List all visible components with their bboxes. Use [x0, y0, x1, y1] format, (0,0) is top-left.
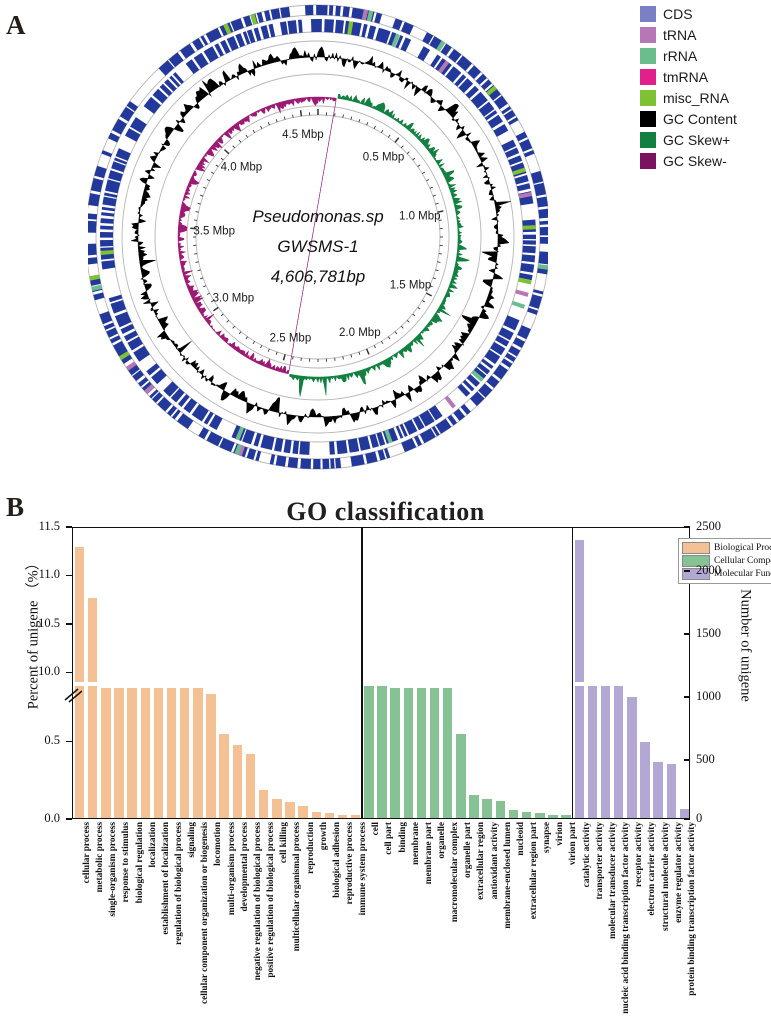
- x-axis-label: nucleic acid binding transcription facto…: [621, 822, 631, 1014]
- x-axis-label: structural molecule activity: [661, 822, 671, 931]
- legend-item-rrna: rRNA: [640, 45, 771, 66]
- x-axis-label: membrane: [411, 822, 421, 865]
- bar: [141, 688, 150, 818]
- x-axis-label: metabolic process: [95, 822, 105, 892]
- x-axis-label: cell killing: [279, 822, 289, 863]
- x-axis-label: virion: [555, 822, 565, 846]
- axis-break-icon: [64, 687, 82, 703]
- bar: [390, 688, 399, 818]
- y-tick-right: [684, 526, 690, 527]
- y-tick-label-left: 0.0: [20, 811, 60, 826]
- mbp-label: 4.5 Mbp: [282, 129, 324, 141]
- chart-title: GO classification: [0, 497, 771, 527]
- y-tick-right: [684, 759, 690, 760]
- bar: [575, 686, 584, 818]
- legend-label: GC Skew-: [663, 153, 727, 169]
- bar: [364, 686, 373, 818]
- x-axis-label: reproductive process: [345, 822, 355, 904]
- x-axis-label: virion part: [568, 822, 578, 865]
- x-axis-label: biological adhesion: [332, 822, 342, 898]
- chart-legend-swatch-icon: [682, 542, 710, 554]
- circular-genome-map: 0.5 Mbp1.0 Mbp1.5 Mbp2.0 Mbp2.5 Mbp3.0 M…: [88, 0, 548, 480]
- bar: [535, 813, 544, 818]
- bar: [469, 795, 478, 818]
- legend-label: GC Skew+: [663, 132, 730, 148]
- legend-swatch-icon: [640, 69, 656, 85]
- legend-label: GC Content: [663, 111, 737, 127]
- y-tick-right: [684, 633, 690, 634]
- go-classification-chart: Percent of unigene （%） Number of unigene…: [0, 527, 771, 1016]
- bar: [325, 813, 334, 818]
- legend-item-gc-skew-: GC Skew+: [640, 130, 771, 151]
- bar: [114, 688, 123, 818]
- x-axis-label: receptor activity: [634, 822, 644, 887]
- legend-label: rRNA: [663, 48, 697, 64]
- bar: [667, 764, 676, 818]
- bar: [233, 745, 242, 818]
- bar: [259, 790, 268, 818]
- y-tick-label-left: 10.5: [20, 616, 60, 631]
- bars-layer: [73, 528, 689, 818]
- x-axis-label: protein binding transcription factor act…: [687, 822, 697, 996]
- x-axis-label: organelle part: [463, 822, 473, 878]
- bar: [312, 812, 321, 818]
- x-axis-label: immune system process: [358, 822, 368, 915]
- y-tick-label-right: 1000: [696, 689, 740, 704]
- y-axis-left-title: Percent of unigene （%）: [22, 538, 43, 728]
- bar: [351, 815, 360, 818]
- bar: [456, 734, 465, 818]
- bar: [522, 812, 531, 818]
- legend-label: misc_RNA: [663, 90, 729, 106]
- genome-legend: CDStRNArRNAtmRNAmisc_RNAGC ContentGC Ske…: [640, 3, 771, 172]
- legend-item-cds: CDS: [640, 3, 771, 24]
- x-axis-label: cellular component organization or bioge…: [200, 822, 210, 1004]
- bar-upper: [575, 540, 584, 682]
- x-axis-label: enzyme regulator activity: [674, 822, 684, 923]
- bar: [548, 815, 557, 818]
- bar: [127, 688, 136, 818]
- x-axis-label: locomotion: [213, 822, 223, 866]
- bar: [246, 754, 255, 818]
- x-axis-label: antioxidant activity: [490, 822, 500, 899]
- y-tick-right: [684, 696, 690, 697]
- bar: [430, 688, 439, 818]
- x-axis-label: molecular transducer activity: [608, 822, 618, 939]
- x-axis-label: membrane-enclosed lumen: [503, 822, 513, 929]
- y-tick-label-right: 0: [696, 811, 740, 826]
- bar: [588, 686, 597, 818]
- x-axis-label: cell part: [384, 822, 394, 855]
- x-axis-label: biological regulation: [135, 822, 145, 903]
- x-axis-label: binding: [398, 822, 408, 853]
- bar: [561, 815, 570, 818]
- bar: [443, 688, 452, 818]
- y-tick-left: [66, 575, 72, 576]
- bar: [404, 688, 413, 818]
- bar: [640, 742, 649, 818]
- chart-legend-item: Biological Process: [682, 542, 771, 554]
- legend-label: CDS: [663, 6, 693, 22]
- x-axis-label: localization: [148, 822, 158, 867]
- mbp-label: 2.0 Mbp: [339, 327, 381, 339]
- mbp-label: 2.5 Mbp: [270, 332, 312, 344]
- x-axis-label: nucleoid: [516, 822, 526, 856]
- x-axis-label: growth: [319, 822, 329, 850]
- x-axis-label: catalytic activity: [582, 822, 592, 887]
- x-axis-label: establishment of localization: [161, 822, 171, 935]
- y-tick-label-right: 1500: [696, 626, 740, 641]
- chart-legend-label: Biological Process: [714, 543, 771, 553]
- x-axis-label: cell: [371, 822, 381, 835]
- bar: [377, 686, 386, 818]
- x-axis-label: synapse: [542, 822, 552, 853]
- bar-upper: [75, 547, 84, 682]
- legend-item-misc-rna: misc_RNA: [640, 87, 771, 108]
- y-tick-right: [684, 570, 690, 571]
- x-axis-label: multicellular organismal process: [292, 822, 302, 951]
- bar: [680, 809, 689, 818]
- legend-item-gc-skew-: GC Skew-: [640, 151, 771, 172]
- x-axis-label: single-organism process: [108, 822, 118, 917]
- bar: [285, 802, 294, 818]
- bar: [272, 799, 281, 818]
- y-tick-label-right: 2500: [696, 519, 740, 534]
- legend-swatch-icon: [640, 27, 656, 43]
- y-tick-label-left: 11.5: [20, 519, 60, 534]
- bar-upper: [88, 598, 97, 682]
- legend-item-trna: tRNA: [640, 24, 771, 45]
- genome-name-line2: GWSMS-1: [277, 237, 358, 256]
- x-axis-label: signaling: [187, 822, 197, 858]
- bar: [653, 762, 662, 818]
- bar: [206, 694, 215, 818]
- bar: [496, 801, 505, 818]
- x-axis-label: regulation of biological process: [174, 822, 184, 945]
- y-tick-left: [66, 623, 72, 624]
- mbp-label: 3.0 Mbp: [213, 292, 255, 304]
- bar: [75, 686, 84, 818]
- y-tick-label-left: 10.0: [20, 664, 60, 679]
- bar: [219, 734, 228, 818]
- legend-swatch-icon: [640, 6, 656, 22]
- bar: [627, 697, 636, 818]
- legend-swatch-icon: [640, 90, 656, 106]
- bar: [482, 799, 491, 818]
- y-tick-label-left: 0.5: [20, 733, 60, 748]
- bar: [601, 686, 610, 818]
- bar: [101, 688, 110, 818]
- x-axis-label: positive regulation of biological proces…: [266, 822, 276, 978]
- bar: [154, 688, 163, 818]
- genome-map-svg: 0.5 Mbp1.0 Mbp1.5 Mbp2.0 Mbp2.5 Mbp3.0 M…: [88, 0, 548, 480]
- bar: [614, 686, 623, 818]
- legend-item-gc-content: GC Content: [640, 108, 771, 129]
- y-tick-label-right: 2000: [696, 563, 740, 578]
- panel-a-label: A: [6, 10, 26, 41]
- x-axis-label: negative regulation of biological proces…: [253, 822, 263, 980]
- genome-name-line1: Pseudomonas.sp: [252, 207, 383, 226]
- bar: [417, 688, 426, 818]
- x-axis-label: electron carrier activity: [647, 822, 657, 916]
- legend-swatch-icon: [640, 111, 656, 127]
- legend-swatch-icon: [640, 132, 656, 148]
- mbp-label: 1.5 Mbp: [390, 280, 432, 292]
- y-tick-label-right: 500: [696, 752, 740, 767]
- group-divider: [572, 528, 574, 818]
- bar: [167, 688, 176, 818]
- x-axis-label: extracellular region part: [529, 822, 539, 919]
- bar: [298, 806, 307, 818]
- x-axis-labels: cellular processmetabolic processsingle-…: [72, 820, 690, 1016]
- x-axis-label: transporter activity: [595, 822, 605, 900]
- legend-label: tRNA: [663, 27, 696, 43]
- x-axis-label: cellular process: [82, 822, 92, 883]
- x-axis-label: response to stimulus: [121, 822, 131, 902]
- legend-item-tmrna: tmRNA: [640, 66, 771, 87]
- legend-swatch-icon: [640, 48, 656, 64]
- bar: [338, 815, 347, 818]
- mbp-label: 4.0 Mbp: [221, 162, 263, 174]
- x-axis-label: multi-organism process: [227, 822, 237, 915]
- plot-area: Biological ProcessCellular ComponentMole…: [72, 527, 690, 819]
- bar: [193, 688, 202, 818]
- x-axis-label: macromolecular complex: [450, 822, 460, 922]
- legend-label: tmRNA: [663, 69, 708, 85]
- y-tick-left: [66, 672, 72, 673]
- x-axis-label: organelle: [437, 822, 447, 859]
- y-tick-left: [66, 741, 72, 742]
- mbp-label: 1.0 Mbp: [399, 211, 441, 223]
- legend-swatch-icon: [640, 153, 656, 169]
- mbp-label: 3.5 Mbp: [193, 226, 235, 238]
- genome-size: 4,606,781bp: [271, 267, 366, 286]
- x-axis-label: membrane part: [424, 822, 434, 884]
- x-axis-label: developmental process: [240, 822, 250, 911]
- y-tick-left: [66, 526, 72, 527]
- bar: [180, 688, 189, 818]
- bar: [88, 686, 97, 818]
- x-axis-label: extracellular region: [476, 822, 486, 900]
- mbp-label: 0.5 Mbp: [363, 151, 405, 163]
- group-divider: [361, 528, 363, 818]
- bar: [509, 810, 518, 818]
- y-tick-label-left: 11.0: [20, 567, 60, 582]
- x-axis-label: reproduction: [306, 822, 316, 874]
